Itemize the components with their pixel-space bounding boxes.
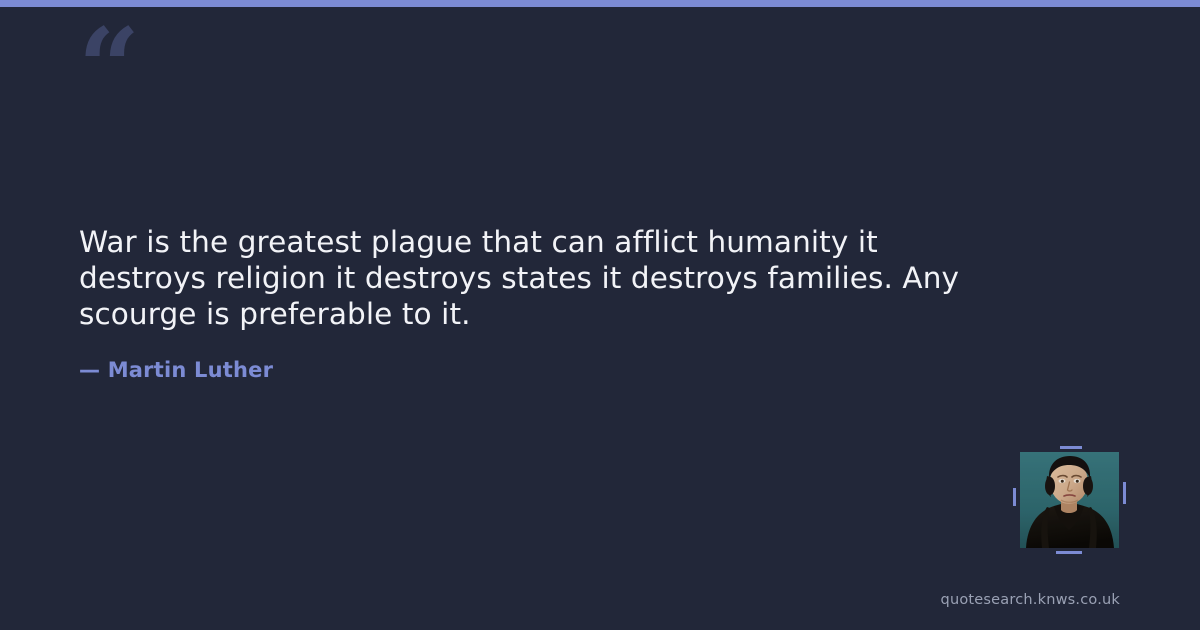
quote-block: War is the greatest plague that can affl… bbox=[79, 224, 979, 382]
quote-text: War is the greatest plague that can affl… bbox=[79, 224, 979, 332]
frame-accent-top-icon bbox=[1060, 446, 1082, 449]
frame-accent-left-icon bbox=[1013, 488, 1016, 506]
author-portrait-image bbox=[1020, 452, 1119, 548]
quote-attribution: — Martin Luther bbox=[79, 358, 979, 382]
portrait-artwork-icon bbox=[1020, 452, 1119, 548]
opening-quote-icon: “ bbox=[78, 14, 138, 122]
source-url: quotesearch.knws.co.uk bbox=[941, 592, 1120, 608]
author-portrait bbox=[1020, 452, 1119, 548]
top-accent-bar bbox=[0, 0, 1200, 7]
frame-accent-right-icon bbox=[1123, 482, 1126, 504]
frame-accent-bottom-icon bbox=[1056, 551, 1082, 554]
quote-card: “ War is the greatest plague that can af… bbox=[0, 0, 1200, 630]
